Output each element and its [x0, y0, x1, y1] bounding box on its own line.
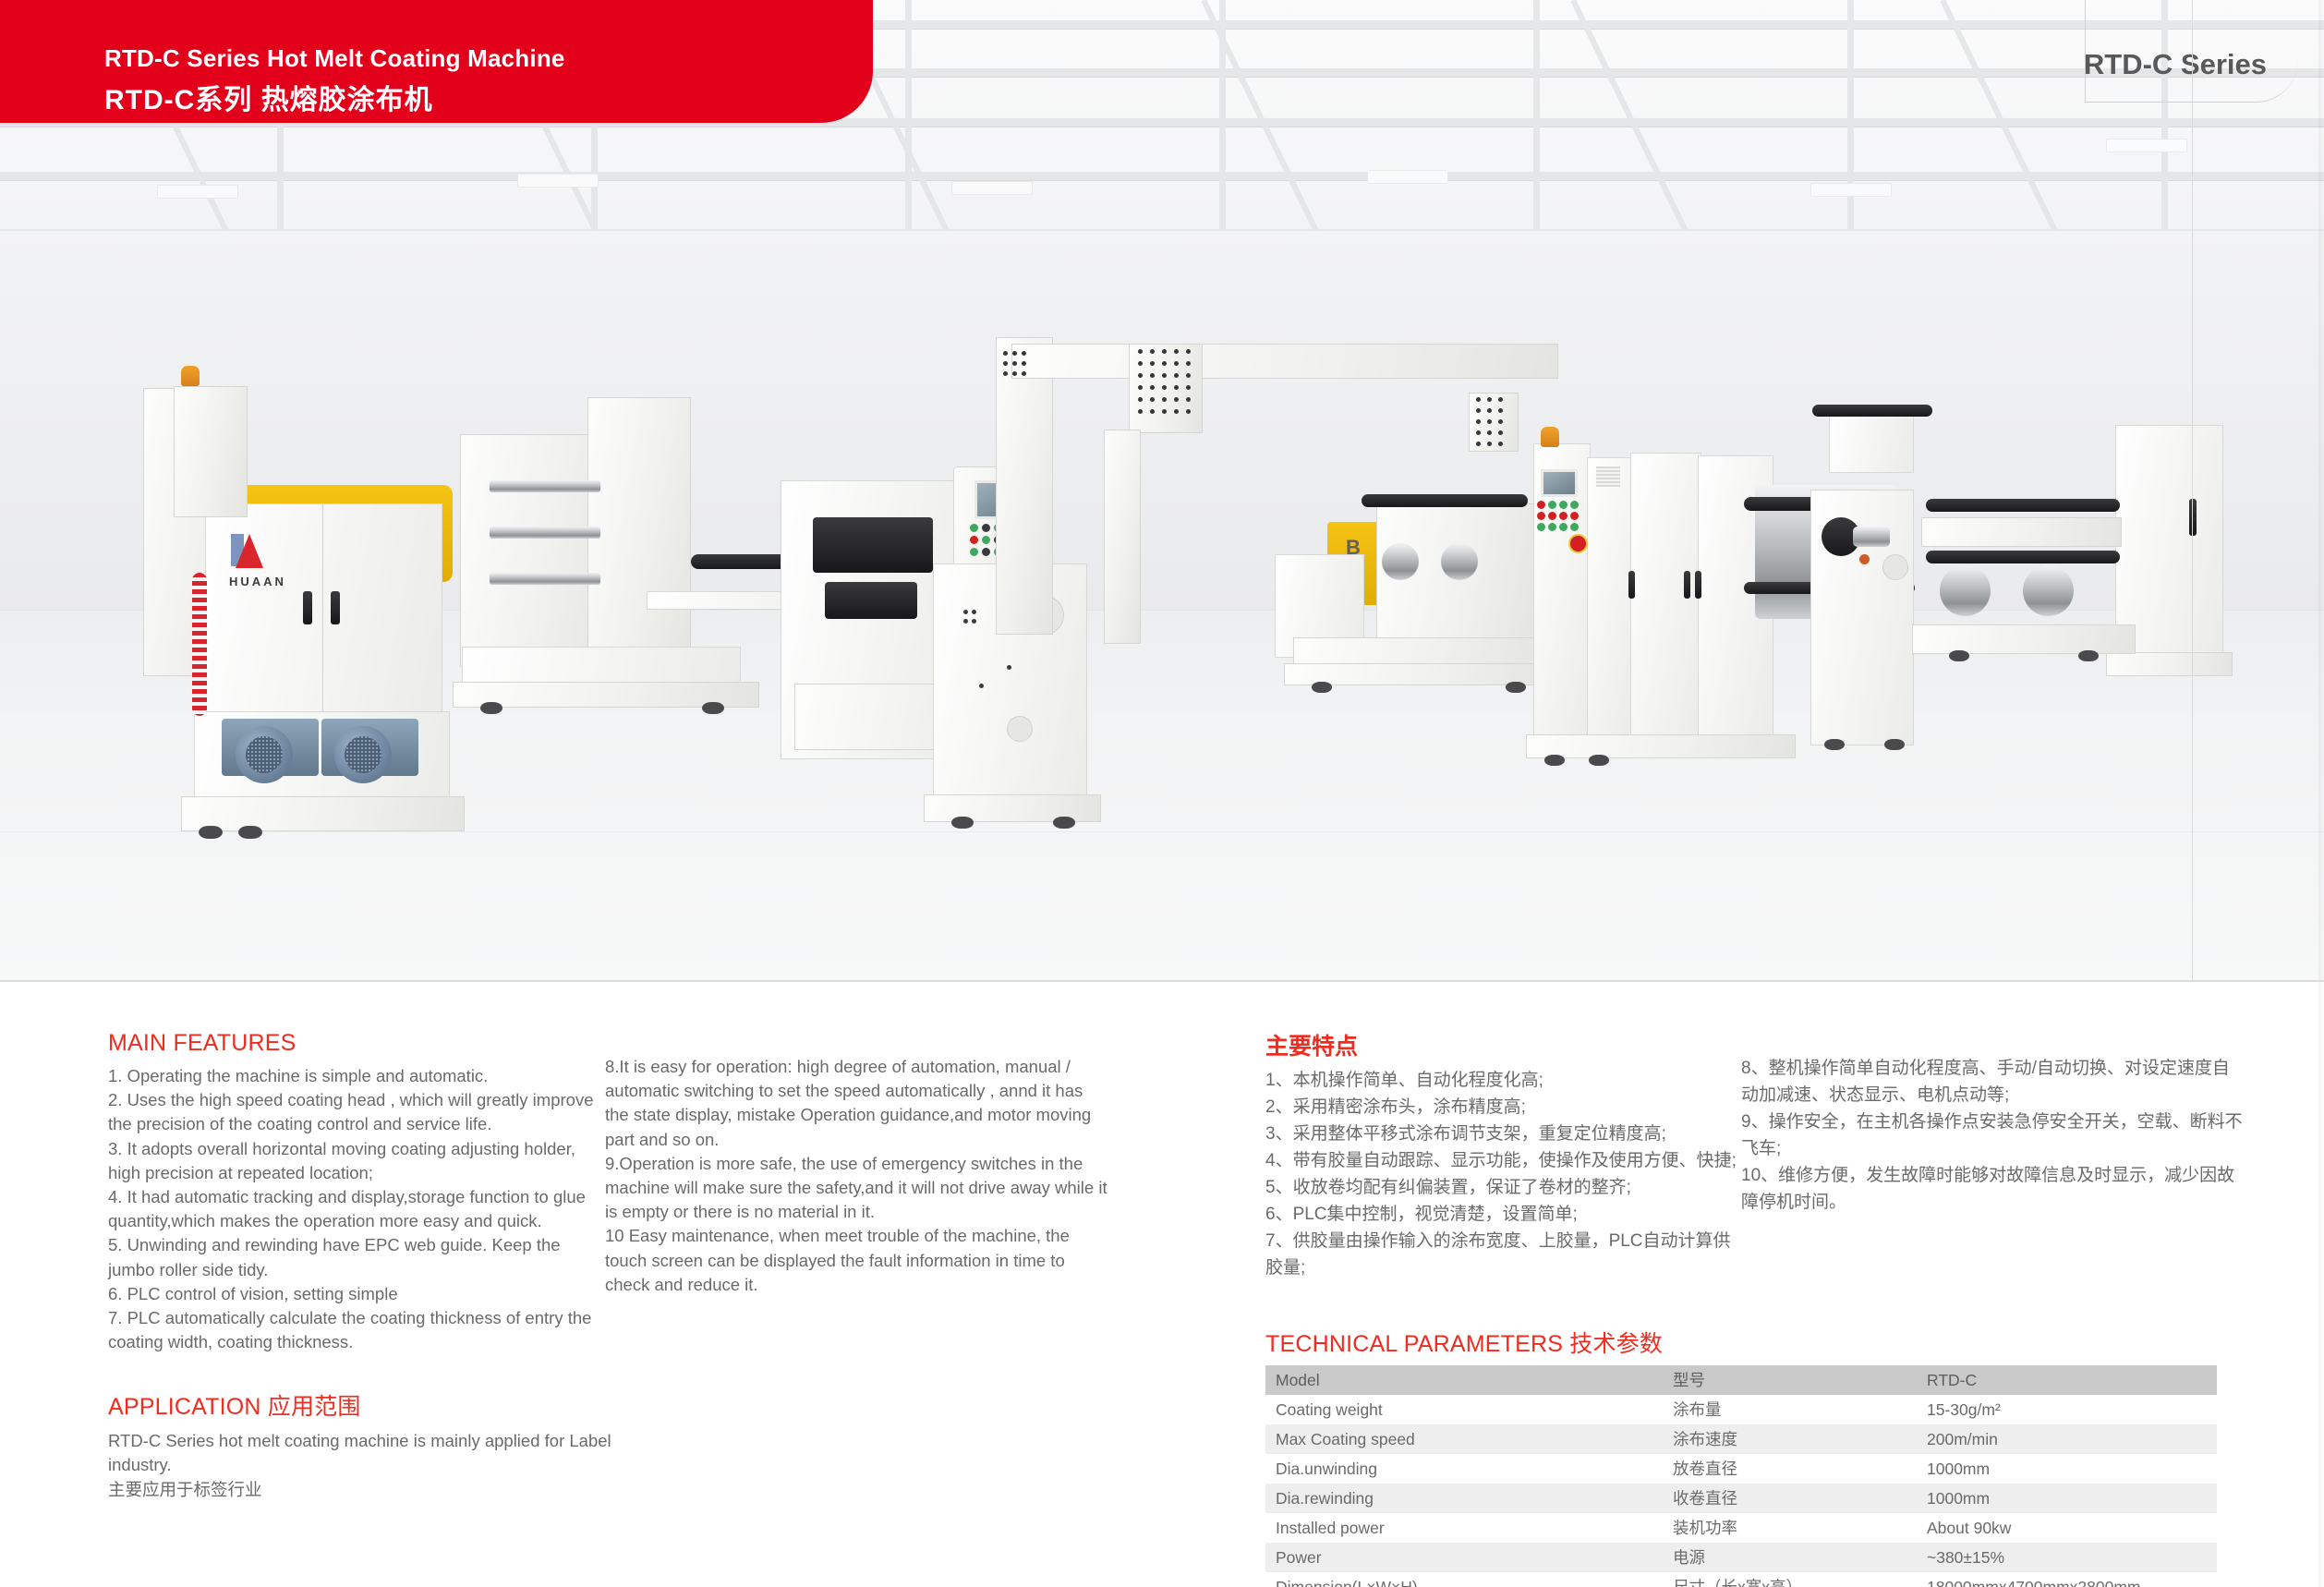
cell-en: Coating weight [1265, 1395, 1663, 1424]
table-row: Installed power 装机功率 About 90kw [1265, 1513, 2217, 1543]
main-features-list-2: 8.It is easy for operation: high degree … [605, 1055, 1108, 1297]
cell-en: Dimension(L×W×H) [1265, 1572, 1663, 1587]
main-features-list-1: 1. Operating the machine is simple and a… [108, 1064, 607, 1354]
technical-parameters-heading: TECHNICAL PARAMETERS 技术参数 [1265, 1326, 2217, 1359]
cell-val: About 90kw [1917, 1513, 2217, 1543]
technical-parameters-table: Model 型号 RTD-C Coating weight 涂布量 15-30g… [1265, 1365, 2217, 1587]
feature-item-cn: 6、PLC集中控制，视觉清楚，设置简单; [1265, 1201, 1746, 1228]
table-row: Coating weight 涂布量 15-30g/m² [1265, 1395, 2217, 1424]
cell-en: Power [1265, 1543, 1663, 1572]
table-row: Dia.rewinding 收卷直径 1000mm [1265, 1484, 2217, 1513]
feature-item-cn: 10、维修方便，发生故障时能够对故障信息及时显示，减少因故障停机时间。 [1741, 1162, 2245, 1216]
photo-bottom-rule [0, 980, 2324, 982]
cell-val: ~380±15% [1917, 1543, 2217, 1572]
feature-item: 2. Uses the high speed coating head , wh… [108, 1088, 607, 1136]
cell-val: 200m/min [1917, 1424, 2217, 1454]
feature-item: 6. PLC control of vision, setting simple [108, 1282, 607, 1306]
cell-val: 1000mm [1917, 1484, 2217, 1513]
cell-cn: 收卷直径 [1663, 1484, 1917, 1513]
feature-item: 9.Operation is more safe, the use of eme… [605, 1152, 1108, 1225]
feature-item-cn: 5、收放卷均配有纠偏装置，保证了卷材的整齐; [1265, 1174, 1746, 1201]
feature-item-cn: 1、本机操作简单、自动化程度化高; [1265, 1067, 1746, 1094]
feature-item: 10 Easy maintenance, when meet trouble o… [605, 1224, 1108, 1297]
cell-cn: 电源 [1663, 1543, 1917, 1572]
cell-cn: 涂布速度 [1663, 1424, 1917, 1454]
cell-cn: 尺寸（长x宽x高） [1663, 1572, 1917, 1587]
feature-item: 8.It is easy for operation: high degree … [605, 1055, 1108, 1152]
feature-item: 3. It adopts overall horizontal moving c… [108, 1137, 607, 1185]
cell-val: 1000mm [1917, 1454, 2217, 1484]
application-text-cn: 主要应用于标签行业 [108, 1478, 625, 1502]
application-block: APPLICATION 应用范围 RTD-C Series hot melt c… [108, 1388, 625, 1503]
table-row: Power 电源 ~380±15% [1265, 1543, 2217, 1572]
main-features-heading: MAIN FEATURES [108, 1030, 607, 1057]
page-edge-shadow [2318, 0, 2324, 1587]
cell-en: Max Coating speed [1265, 1424, 1663, 1454]
feature-item: 7. PLC automatically calculate the coati… [108, 1306, 607, 1354]
banner-title-cn: RTD-C系列 热熔胶涂布机 [104, 77, 433, 117]
features-cn-heading: 主要特点 [1265, 1028, 1746, 1061]
content-area: MAIN FEATURES 1. Operating the machine i… [0, 982, 2324, 1587]
main-features-block: MAIN FEATURES 1. Operating the machine i… [108, 1030, 607, 1354]
cell-val: RTD-C [1917, 1365, 2217, 1395]
feature-item-cn: 9、操作安全，在主机各操作点安装急停安全开关，空载、断料不飞车; [1741, 1108, 2245, 1162]
technical-parameters-block: TECHNICAL PARAMETERS 技术参数 Model 型号 RTD-C… [1265, 1326, 2217, 1587]
feature-item: 1. Operating the machine is simple and a… [108, 1064, 607, 1088]
features-cn-block: 主要特点 1、本机操作简单、自动化程度化高; 2、采用精密涂布头，涂布精度高; … [1265, 1028, 1746, 1281]
table-row: Max Coating speed 涂布速度 200m/min [1265, 1424, 2217, 1454]
cell-val: 15-30g/m² [1917, 1395, 2217, 1424]
product-photo: HUAAN [0, 0, 2324, 982]
feature-item-cn: 4、带有胶量自动跟踪、显示功能，使操作及使用方便、快捷; [1265, 1147, 1746, 1174]
application-text-en: RTD-C Series hot melt coating machine is… [108, 1429, 625, 1477]
series-corner-label: RTD-C Series [2084, 48, 2267, 81]
table-row: Dia.unwinding 放卷直径 1000mm [1265, 1454, 2217, 1484]
banner-title-en: RTD-C Series Hot Melt Coating Machine [104, 44, 565, 73]
table-row: Model 型号 RTD-C [1265, 1365, 2217, 1395]
brochure-page: HUAAN [0, 0, 2324, 1587]
cell-cn: 装机功率 [1663, 1513, 1917, 1543]
cell-en: Dia.rewinding [1265, 1484, 1663, 1513]
feature-item-cn: 2、采用精密涂布头，涂布精度高; [1265, 1094, 1746, 1121]
feature-item: 5. Unwinding and rewinding have EPC web … [108, 1233, 607, 1281]
application-heading: APPLICATION 应用范围 [108, 1388, 625, 1422]
cell-cn: 涂布量 [1663, 1395, 1917, 1424]
feature-item-cn: 7、供胶量由操作输入的涂布宽度、上胶量，PLC自动计算供胶量; [1265, 1228, 1746, 1281]
features-cn-list-1: 1、本机操作简单、自动化程度化高; 2、采用精密涂布头，涂布精度高; 3、采用整… [1265, 1067, 1746, 1281]
cell-en: Installed power [1265, 1513, 1663, 1543]
cell-val: 18000mmx4700mmx2800mm [1917, 1572, 2217, 1587]
cell-en: Model [1265, 1365, 1663, 1395]
cell-cn: 型号 [1663, 1365, 1917, 1395]
feature-item-cn: 8、整机操作简单自动化程度高、手动/自动切换、对设定速度自动加减速、状态显示、电… [1741, 1055, 2245, 1108]
features-cn-list-2: 8、整机操作简单自动化程度高、手动/自动切换、对设定速度自动加减速、状态显示、电… [1741, 1055, 2245, 1216]
feature-item: 4. It had automatic tracking and display… [108, 1185, 607, 1233]
title-banner: RTD-C Series Hot Melt Coating Machine RT… [0, 0, 873, 123]
cell-cn: 放卷直径 [1663, 1454, 1917, 1484]
photo-right-rule [2192, 0, 2193, 982]
cell-en: Dia.unwinding [1265, 1454, 1663, 1484]
feature-item-cn: 3、采用整体平移式涂布调节支架，重复定位精度高; [1265, 1121, 1746, 1147]
table-row: Dimension(L×W×H) 尺寸（长x宽x高） 18000mmx4700m… [1265, 1572, 2217, 1587]
